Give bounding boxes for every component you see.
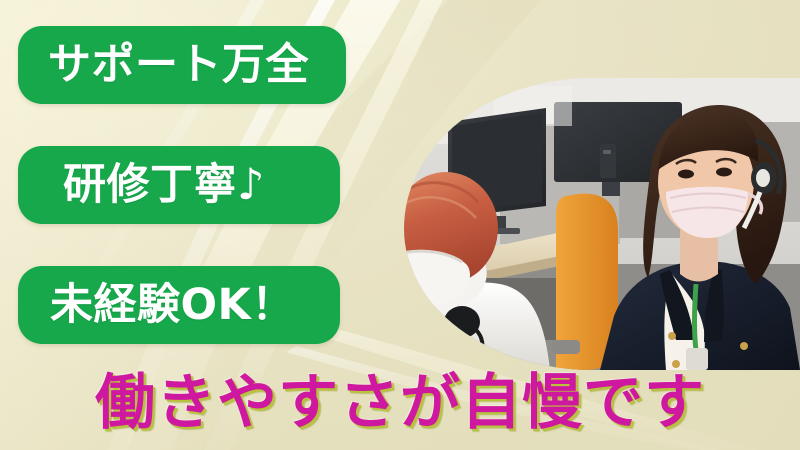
photo-pc-led xyxy=(603,150,611,154)
call-center-photo xyxy=(404,78,800,370)
recruitment-poster: サポート万全 研修丁寧♪ 未経験OK！ xyxy=(0,0,800,450)
badge-experience-label: 未経験OK！ xyxy=(18,284,295,327)
photo-monitor-back-stand xyxy=(602,182,620,196)
badge-support[interactable]: サポート万全 xyxy=(18,26,346,104)
badge-support-label: サポート万全 xyxy=(18,44,309,87)
photo-eye-left xyxy=(678,170,694,179)
badge-training-label: 研修丁寧♪ xyxy=(18,164,265,207)
badge-training[interactable]: 研修丁寧♪ xyxy=(18,146,340,224)
page-title: 働きやすさが自慢です xyxy=(0,367,800,439)
photo-eye-right xyxy=(716,168,732,177)
photo-pc-tower xyxy=(600,144,616,178)
call-center-photo-illustration xyxy=(404,78,800,370)
photo-lanyard xyxy=(695,284,697,350)
badge-experience[interactable]: 未経験OK！ xyxy=(18,266,340,344)
